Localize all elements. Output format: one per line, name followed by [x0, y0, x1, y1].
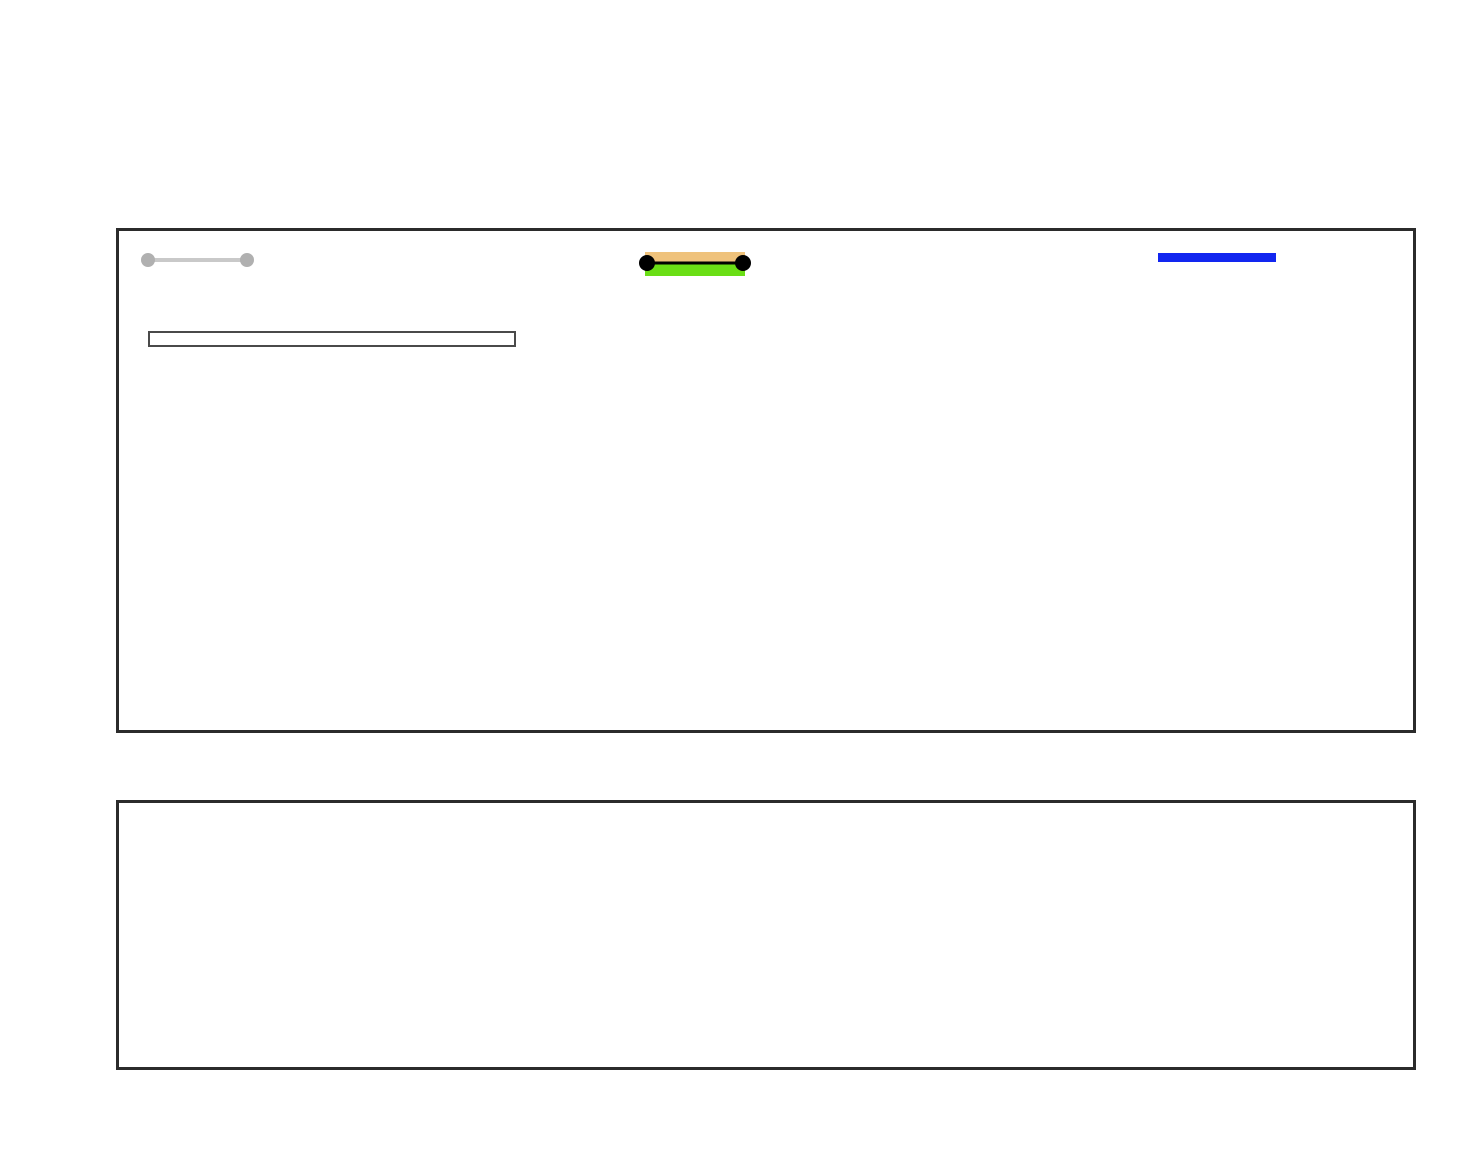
- percent-of-crop-table: [148, 331, 516, 347]
- legend-item-ensemble-average: [639, 249, 762, 275]
- cumulative-precipitation-chart: [116, 228, 1416, 733]
- ensemble-members-swatch-icon: [140, 249, 255, 271]
- cumulative-precipitation-plot: [119, 231, 1413, 730]
- legend-item-ensemble-members: [140, 249, 266, 271]
- chart-legend: [140, 243, 1395, 289]
- normal-line-swatch-icon: [1158, 253, 1276, 262]
- daily-precipitation-chart: [116, 800, 1416, 1070]
- daily-precipitation-plot: [119, 803, 1413, 1067]
- legend-item-normal: [1158, 253, 1287, 262]
- ensemble-average-swatch-icon: [639, 249, 751, 275]
